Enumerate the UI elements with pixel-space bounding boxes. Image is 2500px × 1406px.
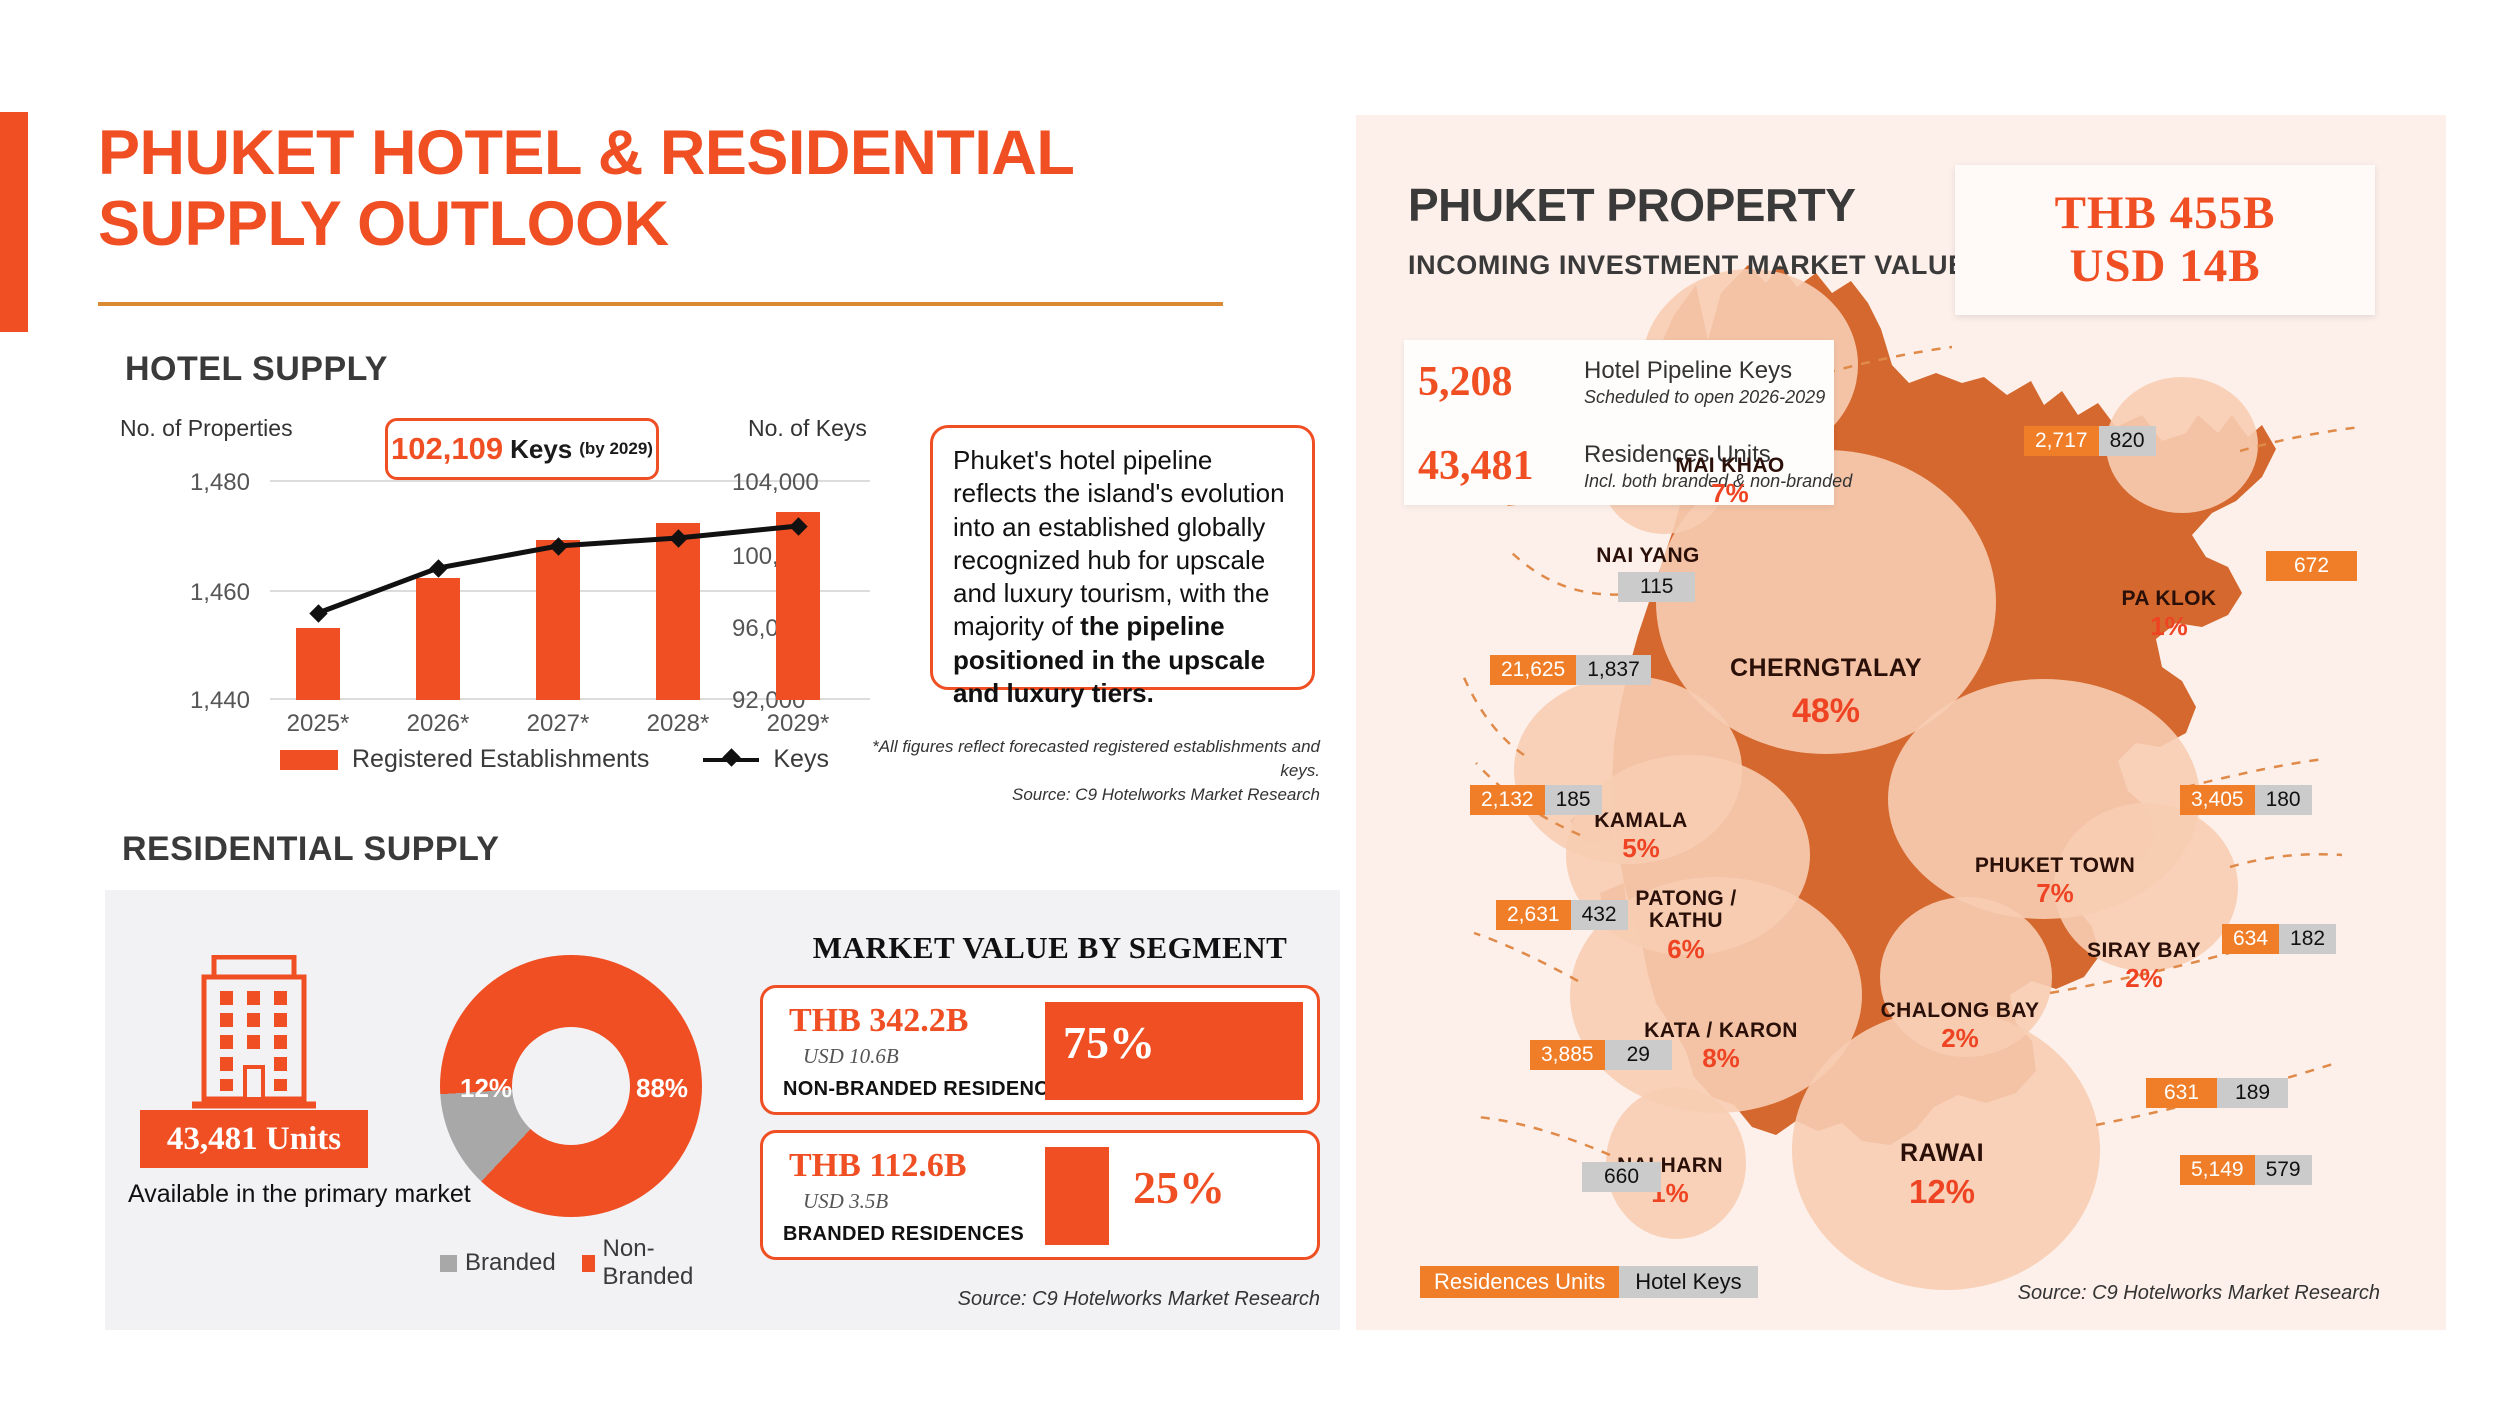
keys-total-unit: Keys [510, 434, 572, 465]
map-panel-title: PHUKET PROPERTY [1408, 178, 1855, 232]
donut-legend-nonbranded-label: Non-Branded [603, 1235, 710, 1291]
stat-1-label: Residences UnitsIncl. both branded & non… [1584, 442, 1852, 491]
x-label-1: 2026* [393, 710, 483, 738]
chart-left-axis-title: No. of Properties [120, 415, 293, 442]
stat-1-label-text: Residences Units [1584, 441, 1771, 468]
tag-11-residences: 5,149 [2180, 1155, 2255, 1185]
donut-label-branded: 12% [460, 1073, 512, 1104]
tag-siray-bay: 634 182 [2222, 924, 2336, 954]
map-legend-keys: Hotel Keys [1619, 1266, 1757, 1298]
market-value-title: MARKET VALUE BY SEGMENT [790, 930, 1310, 966]
mv0-name: NON-BRANDED RESIDENCES [783, 1078, 1076, 1101]
hotel-chart-source: *All figures reflect forecasted register… [860, 735, 1320, 807]
tag-1-keys: 115 [1618, 572, 1695, 602]
title-accent-bar [0, 112, 28, 332]
x-label-0: 2025* [273, 710, 363, 738]
y-tick-left-1: 1,460 [130, 579, 250, 607]
mv1-pct: 25% [1133, 1161, 1225, 1214]
infographic-page: PHUKET HOTEL & RESIDENTIAL SUPPLY OUTLOO… [0, 0, 2500, 1406]
mv0-usd: USD 10.6B [803, 1044, 899, 1069]
market-value-card-nonbranded: THB 342.2B USD 10.6B NON-BRANDED RESIDEN… [760, 985, 1320, 1115]
tag-8-residences: 3,885 [1530, 1040, 1605, 1070]
tag-7-residences: 634 [2222, 924, 2279, 954]
tag-0-keys: 820 [2099, 426, 2156, 456]
mv1-bar [1045, 1147, 1109, 1245]
tag-nai-harn: 660 [1582, 1162, 1661, 1192]
tag-4-residences: 2,132 [1470, 785, 1545, 815]
tag-2-residences: 672 [2266, 551, 2357, 581]
map-legend-residences: Residences Units [1420, 1266, 1619, 1298]
chart-bars [270, 480, 870, 700]
donut-legend-nonbranded: Non-Branded [582, 1235, 710, 1291]
total-value-usd: USD 14B [2069, 240, 2260, 293]
hotel-supply-heading: HOTEL SUPPLY [125, 350, 388, 389]
mv1-name: BRANDED RESIDENCES [783, 1223, 1024, 1246]
map-panel-subtitle: INCOMING INVESTMENT MARKET VALUE [1408, 250, 1967, 281]
residential-source: Source: C9 Hotelworks Market Research [740, 1288, 1320, 1311]
stat-0-note: Scheduled to open 2026-2029 [1584, 387, 1825, 407]
tag-patong-kathu: 2,631 432 [1496, 900, 1628, 930]
residential-units-subtitle: Available in the primary market [128, 1180, 471, 1209]
mv0-thb: THB 342.2B [789, 1002, 968, 1040]
tag-10-keys: 660 [1582, 1162, 1661, 1192]
page-title-line2: SUPPLY OUTLOOK [98, 189, 1278, 260]
hotel-chart-footnote: *All figures reflect forecasted register… [860, 735, 1320, 783]
tag-5-keys: 432 [1571, 900, 1628, 930]
title-divider [98, 302, 1223, 306]
tag-cherngtalay: 21,625 1,837 [1490, 655, 1651, 685]
tag-0-residences: 2,717 [2024, 426, 2099, 456]
residential-units-badge: 43,481 Units [140, 1110, 368, 1168]
branded-donut-chart: 12% 88% [440, 955, 702, 1217]
legend-line-swatch [703, 758, 759, 762]
mv1-usd: USD 3.5B [803, 1189, 888, 1214]
tag-8-keys: 29 [1605, 1040, 1672, 1070]
hotel-chart-source-line: Source: C9 Hotelworks Market Research [860, 783, 1320, 807]
stat-hotel-pipeline-keys: 5,208 Hotel Pipeline KeysScheduled to op… [1418, 358, 1825, 407]
tag-nai-yang: 115 [1618, 572, 1695, 602]
stat-0-label: Hotel Pipeline KeysScheduled to open 202… [1584, 358, 1825, 407]
donut-hole [512, 1027, 630, 1145]
y-tick-left-0: 1,440 [130, 687, 250, 715]
tag-kata-karon: 3,885 29 [1530, 1040, 1672, 1070]
stat-residences-units: 43,481 Residences UnitsIncl. both brande… [1418, 442, 1852, 491]
tag-pa-klok: 672 [2266, 551, 2357, 581]
pipeline-callout: Phuket's hotel pipeline reflects the isl… [930, 425, 1315, 690]
tag-5-residences: 2,631 [1496, 900, 1571, 930]
tag-phuket-town: 3,405 180 [2180, 785, 2312, 815]
tag-4-keys: 185 [1545, 785, 1602, 815]
keys-total-qualifier: (by 2029) [579, 439, 653, 459]
market-value-card-branded: THB 112.6B USD 3.5B BRANDED RESIDENCES 2… [760, 1130, 1320, 1260]
tag-3-residences: 21,625 [1490, 655, 1576, 685]
total-value-thb: THB 455B [2055, 187, 2276, 240]
residential-supply-heading: RESIDENTIAL SUPPLY [122, 830, 499, 869]
donut-label-nonbranded: 88% [636, 1073, 688, 1104]
stat-1-number: 43,481 [1418, 442, 1568, 490]
tag-9-keys: 189 [2217, 1078, 2288, 1108]
tag-6-residences: 3,405 [2180, 785, 2255, 815]
legend-bar-label: Registered Establishments [352, 745, 649, 774]
x-label-4: 2029* [753, 710, 843, 738]
total-market-value-box: THB 455B USD 14B [1955, 165, 2375, 315]
tag-11-keys: 579 [2255, 1155, 2312, 1185]
page-title-line1: PHUKET HOTEL & RESIDENTIAL [98, 118, 1278, 189]
page-title: PHUKET HOTEL & RESIDENTIAL SUPPLY OUTLOO… [98, 118, 1278, 259]
donut-legend-branded: Branded [440, 1249, 556, 1277]
tag-6-keys: 180 [2255, 785, 2312, 815]
map-legend: Residences Units Hotel Keys [1420, 1266, 1758, 1298]
x-label-3: 2028* [633, 710, 723, 738]
tag-chalong-bay: 631 189 [2146, 1078, 2288, 1108]
legend-line-label: Keys [773, 745, 829, 774]
stat-0-label-text: Hotel Pipeline Keys [1584, 357, 1792, 384]
chart-legend: Registered Establishments Keys [280, 745, 829, 774]
donut-legend: Branded Non-Branded [440, 1235, 710, 1291]
tag-kamala: 2,132 185 [1470, 785, 1602, 815]
tag-rawai: 5,149 579 [2180, 1155, 2312, 1185]
building-icon [190, 955, 318, 1115]
tag-7-keys: 182 [2279, 924, 2336, 954]
tag-9-residences: 631 [2146, 1078, 2217, 1108]
tag-mai-khao: 2,717 820 [2024, 426, 2156, 456]
keys-line-series [270, 480, 870, 700]
chart-right-axis-title: No. of Keys [748, 415, 867, 442]
stat-1-note: Incl. both branded & non-branded [1584, 471, 1852, 491]
donut-legend-branded-label: Branded [465, 1249, 556, 1277]
map-source: Source: C9 Hotelworks Market Research [1900, 1282, 2380, 1305]
y-tick-left-2: 1,480 [130, 469, 250, 497]
keys-total-badge: 102,109 Keys (by 2029) [385, 418, 659, 480]
keys-total-value: 102,109 [391, 431, 503, 467]
x-label-2: 2027* [513, 710, 603, 738]
mv0-pct: 75% [1063, 1016, 1155, 1069]
mv1-thb: THB 112.6B [789, 1147, 967, 1185]
stat-0-number: 5,208 [1418, 358, 1568, 406]
legend-bar-swatch [280, 750, 338, 770]
tag-3-keys: 1,837 [1576, 655, 1651, 685]
